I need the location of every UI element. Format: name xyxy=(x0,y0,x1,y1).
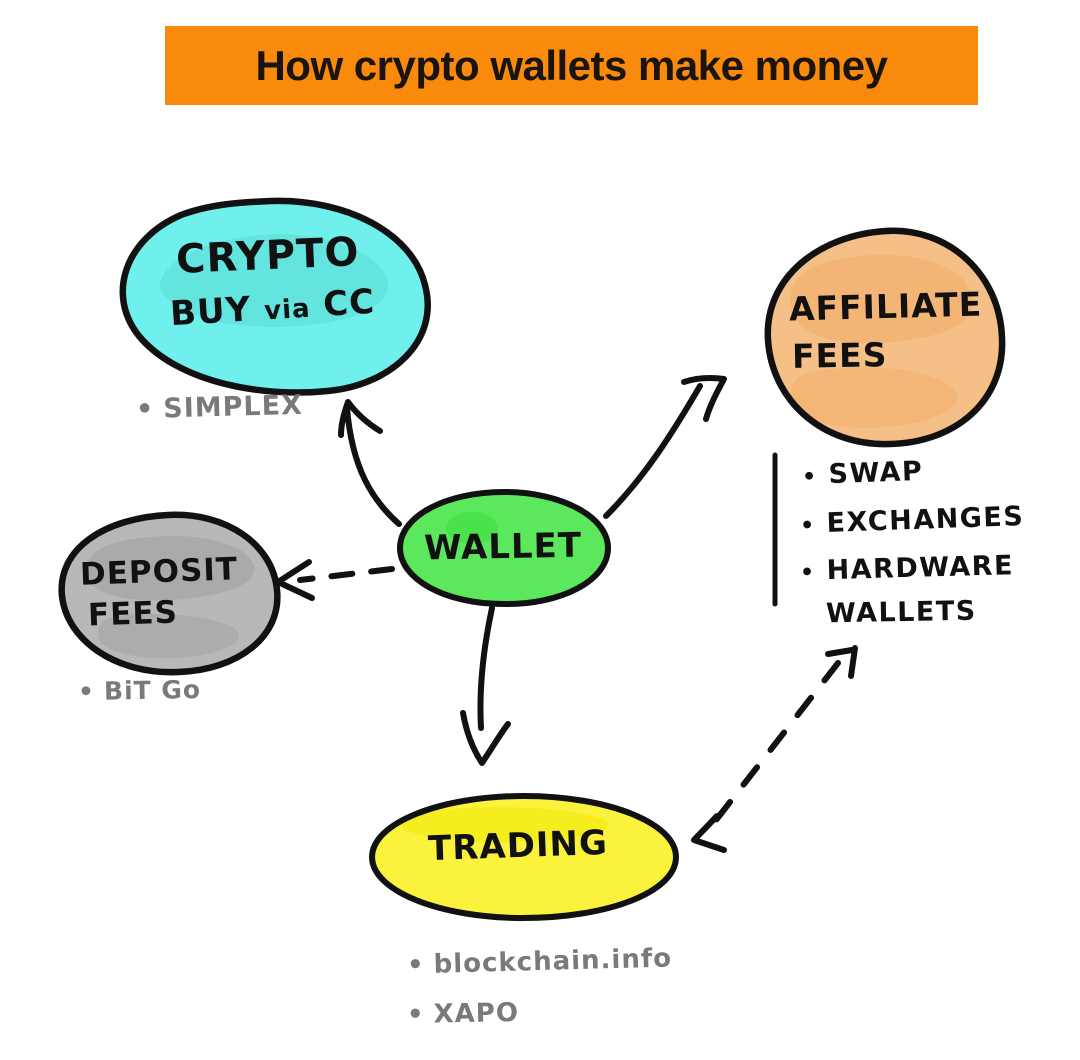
connector-wallet-to-trading-arrowhead xyxy=(463,713,508,763)
bullet-icon: • xyxy=(136,394,155,425)
connector-wallet-to-trading xyxy=(463,608,508,763)
connector-wallet-to-deposit-line xyxy=(300,569,392,580)
affiliate-node-texture-1 xyxy=(790,255,972,344)
node-affiliate-fees[interactable] xyxy=(768,231,1002,444)
annotation-bitgo: •BiT Go xyxy=(78,675,202,706)
connector-affiliate-to-trading xyxy=(694,648,855,850)
node-trading[interactable] xyxy=(372,796,676,918)
annotation-simplex: •SIMPLEX xyxy=(136,390,304,425)
connector-wallet-to-affiliate xyxy=(606,378,724,516)
bullet-icon: • xyxy=(802,465,818,491)
annotation-xapo: •XAPO xyxy=(407,998,519,1030)
bullet-icon: • xyxy=(800,560,816,585)
bullet-icon: • xyxy=(78,677,95,706)
node-crypto-buy-via-cc[interactable] xyxy=(123,201,428,393)
node-deposit-fees[interactable] xyxy=(62,515,278,672)
node-wallet[interactable] xyxy=(400,492,608,604)
bullet-icon: • xyxy=(800,513,816,539)
affiliate-list-item-hardware-wrap: WALLETS xyxy=(826,596,977,630)
bullet-icon: • xyxy=(407,950,425,980)
affiliate-list-item-label: WALLETS xyxy=(826,596,977,630)
annotation-label: XAPO xyxy=(433,998,519,1029)
annotation-label: blockchain.info xyxy=(433,944,672,980)
affiliate-list-item-swap: •SWAP xyxy=(801,456,923,491)
wallet-node-highlight xyxy=(446,512,498,544)
connector-wallet-to-trading-line xyxy=(480,608,492,728)
annotation-label: BiT Go xyxy=(104,675,202,706)
bullet-icon: • xyxy=(407,1000,425,1030)
affiliate-list-item-label: HARDWARE xyxy=(826,550,1014,586)
affiliate-list-item-label: SWAP xyxy=(828,456,924,490)
connector-wallet-to-crypto xyxy=(341,402,399,524)
connector-affiliate-to-trading-line xyxy=(706,663,838,833)
annotation-label: SIMPLEX xyxy=(163,390,303,425)
connector-affiliate-to-trading-arrowhead-lower xyxy=(694,816,724,850)
affiliate-list-item-hardware: •HARDWARE xyxy=(800,550,1015,587)
connector-wallet-to-affiliate-line xyxy=(606,386,700,516)
connector-wallet-to-deposit xyxy=(278,562,392,598)
